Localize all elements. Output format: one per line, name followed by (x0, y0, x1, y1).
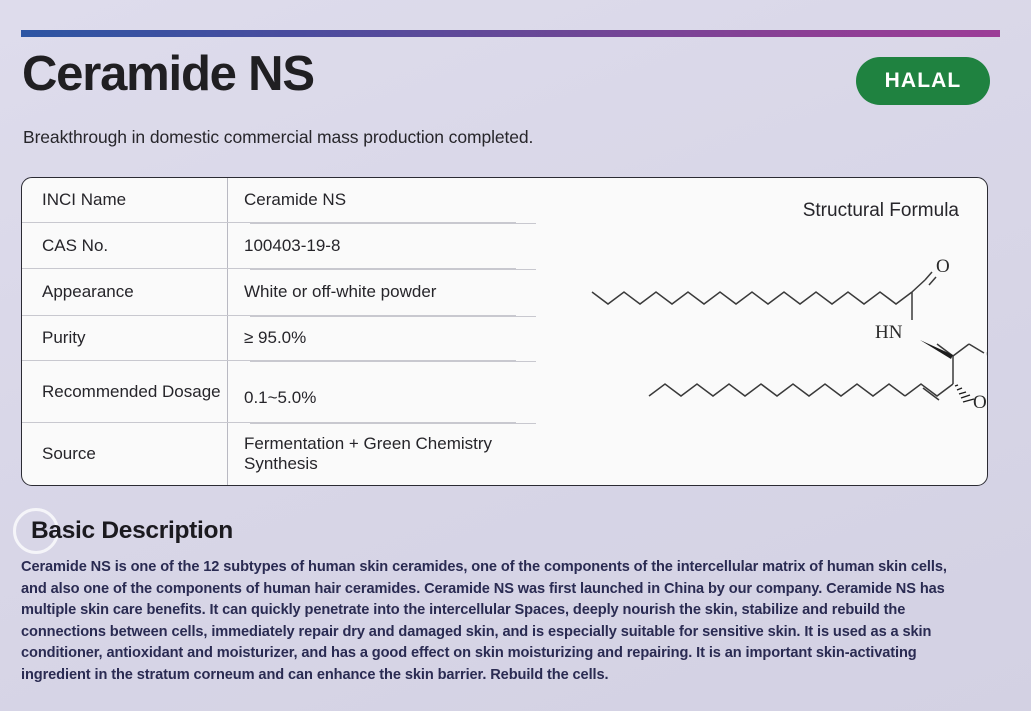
spec-value: 100403-19-8 (228, 223, 516, 268)
ceramide-structure-diagram: O HN (560, 252, 988, 462)
specification-card: INCI Name Ceramide NS CAS No. 100403-19-… (21, 177, 988, 486)
structural-formula-title: Structural Formula (803, 200, 959, 222)
table-row: CAS No. 100403-19-8 (22, 223, 516, 269)
spec-label: Appearance (22, 269, 228, 315)
table-row: Appearance White or off-white powder (22, 269, 516, 316)
table-row: Purity ≥ 95.0% (22, 316, 516, 361)
spec-label: INCI Name (22, 178, 228, 222)
halal-badge: HALAL (856, 57, 990, 105)
spec-value: 0.1~5.0% (228, 361, 516, 422)
basic-description-body: Ceramide NS is one of the 12 subtypes of… (21, 557, 959, 687)
spec-label: Recommended Dosage (22, 361, 228, 422)
spec-table: INCI Name Ceramide NS CAS No. 100403-19-… (22, 178, 516, 485)
spec-label: CAS No. (22, 223, 228, 268)
carbonyl-oxygen-label: O (936, 256, 950, 277)
spec-value: Fermentation + Green Chemistry Synthesis (228, 423, 516, 485)
page-subtitle: Breakthrough in domestic commercial mass… (23, 127, 533, 148)
secondary-hydroxyl-label: OH (973, 392, 988, 413)
table-row: Recommended Dosage 0.1~5.0% (22, 361, 516, 423)
basic-description-heading: Basic Description (31, 517, 233, 545)
table-row: Source Fermentation + Green Chemistry Sy… (22, 423, 516, 485)
stereo-hash-bond (955, 385, 974, 402)
accent-gradient-bar (21, 30, 1000, 37)
amide-nitrogen-label: HN (875, 322, 903, 343)
structural-formula-area: Structural Formula O HN (522, 178, 987, 485)
stereo-wedge-bond (920, 340, 953, 359)
spec-value: ≥ 95.0% (228, 316, 516, 360)
spec-value: White or off-white powder (228, 269, 516, 315)
page-title: Ceramide NS (22, 49, 314, 101)
spec-label: Source (22, 423, 228, 485)
spec-label: Purity (22, 316, 228, 360)
primary-hydroxyl-label: OH (986, 344, 988, 365)
table-row: INCI Name Ceramide NS (22, 178, 516, 223)
spec-value: Ceramide NS (228, 178, 516, 222)
